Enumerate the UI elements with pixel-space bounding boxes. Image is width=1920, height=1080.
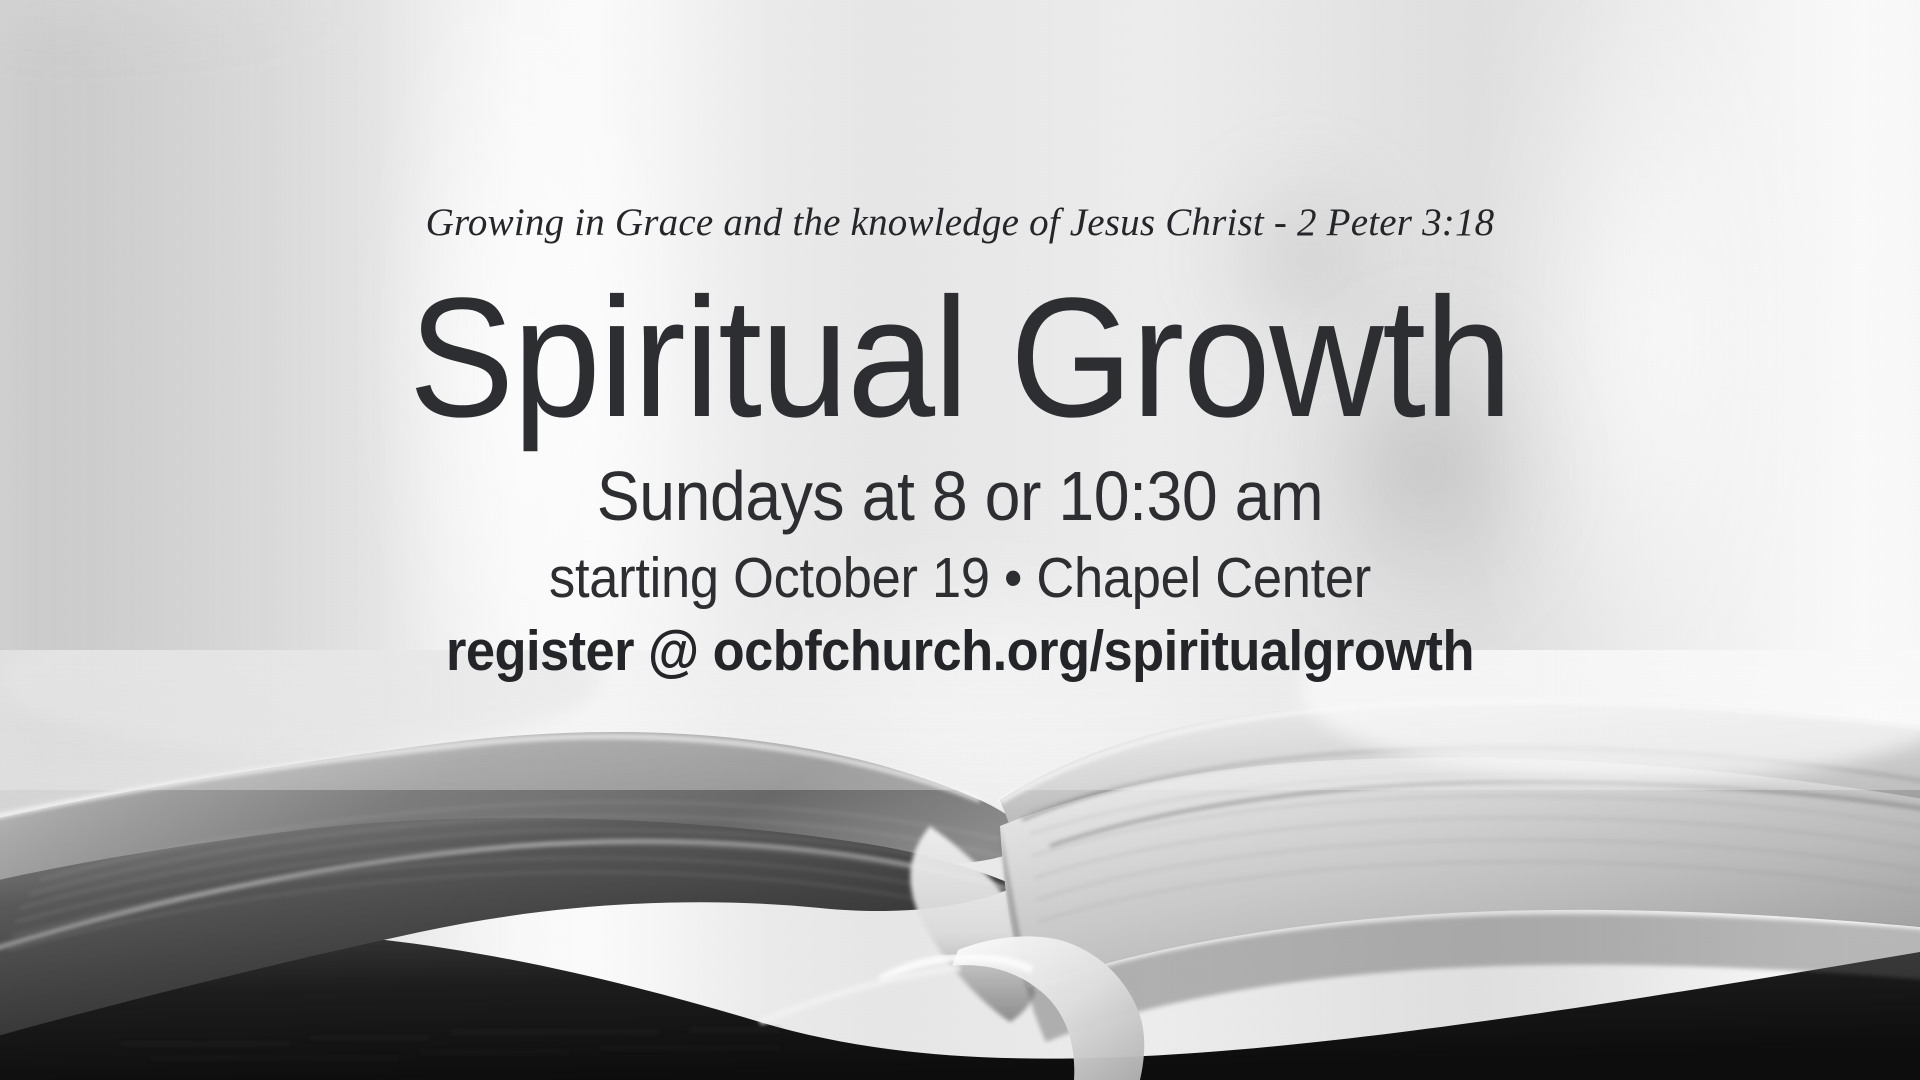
film-grain-overlay	[0, 0, 1920, 1080]
promo-graphic: Growing in Grace and the knowledge of Je…	[0, 0, 1920, 1080]
